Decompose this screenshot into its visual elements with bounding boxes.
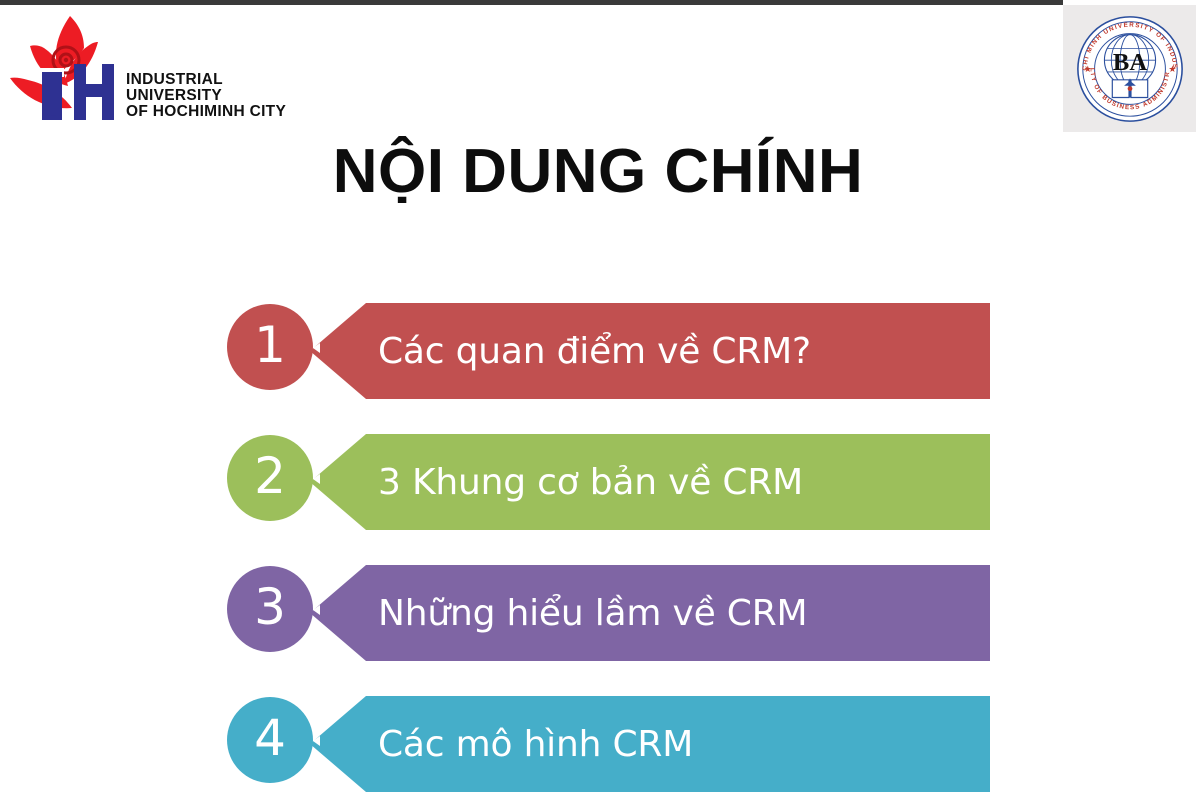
agenda-number-3: 3 xyxy=(254,582,286,632)
connector-notch-4 xyxy=(313,736,320,746)
top-accent-strip xyxy=(0,0,1063,5)
agenda-list: 1 Các quan điểm về CRM? 2 3 Khung cơ bản… xyxy=(0,295,1196,792)
agenda-number-4: 4 xyxy=(254,713,286,763)
agenda-number-badge-3: 3 xyxy=(227,566,313,652)
agenda-chevron-1[interactable]: Các quan điểm về CRM? xyxy=(310,303,990,399)
agenda-number-badge-1: 1 xyxy=(227,304,313,390)
business-administration-seal-icon: BA HO CHI MINH UNIVERSITY OF INDUSTRY FA… xyxy=(1071,8,1189,128)
page-title: NỘI DUNG CHÍNH xyxy=(0,136,1196,207)
university-wordmark: INDUSTRIAL UNIVERSITY OF HOCHIMINH CITY xyxy=(126,72,286,120)
agenda-label-2: 3 Khung cơ bản về CRM xyxy=(310,462,803,503)
connector-notch-2 xyxy=(313,474,320,484)
university-logo-left: INDUSTRIAL UNIVERSITY OF HOCHIMINH CITY xyxy=(0,8,280,134)
agenda-chevron-2[interactable]: 3 Khung cơ bản về CRM xyxy=(310,434,990,530)
svg-text:★: ★ xyxy=(1168,64,1176,74)
agenda-item-2[interactable]: 2 3 Khung cơ bản về CRM xyxy=(0,426,1196,530)
agenda-label-4: Các mô hình CRM xyxy=(310,724,693,765)
agenda-number-badge-4: 4 xyxy=(227,697,313,783)
connector-notch-3 xyxy=(313,605,320,615)
agenda-number-2: 2 xyxy=(254,451,286,501)
faculty-seal-right: BA HO CHI MINH UNIVERSITY OF INDUSTRY FA… xyxy=(1063,5,1196,132)
agenda-number-badge-2: 2 xyxy=(227,435,313,521)
agenda-label-1: Các quan điểm về CRM? xyxy=(310,331,811,372)
svg-text:BA: BA xyxy=(1113,49,1147,76)
agenda-label-3: Những hiểu lầm về CRM xyxy=(310,593,807,634)
agenda-item-3[interactable]: 3 Những hiểu lầm về CRM xyxy=(0,557,1196,661)
iuh-flame-icon xyxy=(6,12,126,130)
connector-notch-1 xyxy=(313,343,320,353)
agenda-item-4[interactable]: 4 Các mô hình CRM xyxy=(0,688,1196,792)
agenda-item-1[interactable]: 1 Các quan điểm về CRM? xyxy=(0,295,1196,399)
agenda-chevron-3[interactable]: Những hiểu lầm về CRM xyxy=(310,565,990,661)
wordmark-line-1: INDUSTRIAL xyxy=(126,72,286,88)
svg-text:★: ★ xyxy=(1084,64,1092,74)
slide-nội-dung-chính: INDUSTRIAL UNIVERSITY OF HOCHIMINH CITY xyxy=(0,0,1196,811)
wordmark-line-3: OF HOCHIMINH CITY xyxy=(126,104,286,120)
wordmark-line-2: UNIVERSITY xyxy=(126,88,286,104)
agenda-chevron-4[interactable]: Các mô hình CRM xyxy=(310,696,990,792)
agenda-number-1: 1 xyxy=(254,320,286,370)
